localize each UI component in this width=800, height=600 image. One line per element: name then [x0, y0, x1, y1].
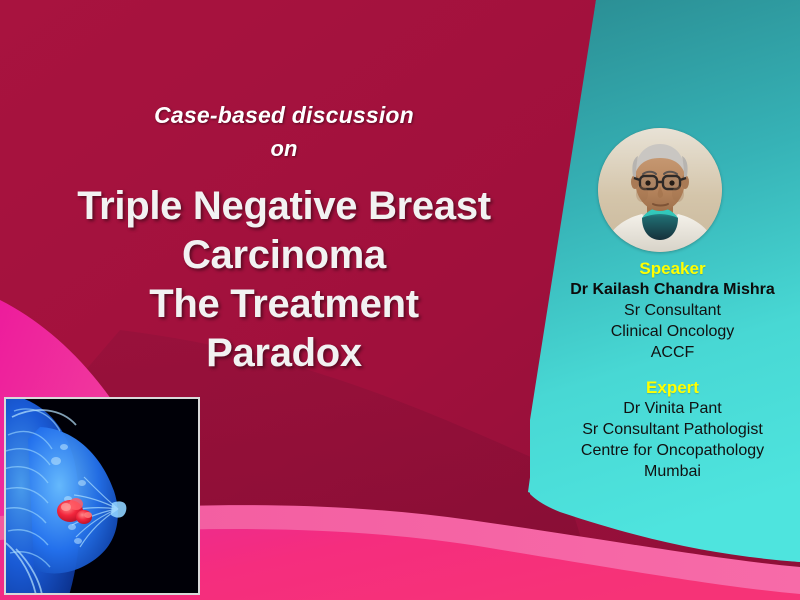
- breast-anatomy-illustration: [6, 399, 198, 593]
- speaker-portrait: [598, 128, 722, 252]
- speaker-detail-3: ACCF: [545, 342, 800, 363]
- slide-subtitle: Case-based discussion: [28, 100, 540, 130]
- title-line-1: Triple Negative Breast: [28, 182, 540, 231]
- title-line-3: The Treatment: [28, 280, 540, 329]
- title-block: Case-based discussion on Triple Negative…: [28, 100, 540, 378]
- speaker-detail-1: Sr Consultant: [545, 300, 800, 321]
- expert-name: Dr Vinita Pant: [545, 398, 800, 419]
- slide-subtitle-connector: on: [28, 134, 540, 164]
- avatar: [598, 128, 722, 252]
- speaker-name: Dr Kailash Chandra Mishra: [545, 279, 800, 300]
- expert-detail-2: Centre for Oncopathology: [545, 440, 800, 461]
- expert-role-label: Expert: [545, 377, 800, 398]
- speaker-role-label: Speaker: [545, 258, 800, 279]
- breast-anatomy-image: [4, 397, 200, 595]
- expert-detail-3: Mumbai: [545, 461, 800, 482]
- credits-spacer: [545, 363, 800, 377]
- title-line-2: Carcinoma: [28, 231, 540, 280]
- credits-block: Speaker Dr Kailash Chandra Mishra Sr Con…: [545, 258, 800, 482]
- title-line-4: Paradox: [28, 329, 540, 378]
- title-slide: Case-based discussion on Triple Negative…: [0, 0, 800, 600]
- page-title: Triple Negative Breast Carcinoma The Tre…: [28, 182, 540, 378]
- speaker-panel: Speaker Dr Kailash Chandra Mishra Sr Con…: [545, 0, 800, 600]
- speaker-detail-2: Clinical Oncology: [545, 321, 800, 342]
- expert-detail-1: Sr Consultant Pathologist: [545, 419, 800, 440]
